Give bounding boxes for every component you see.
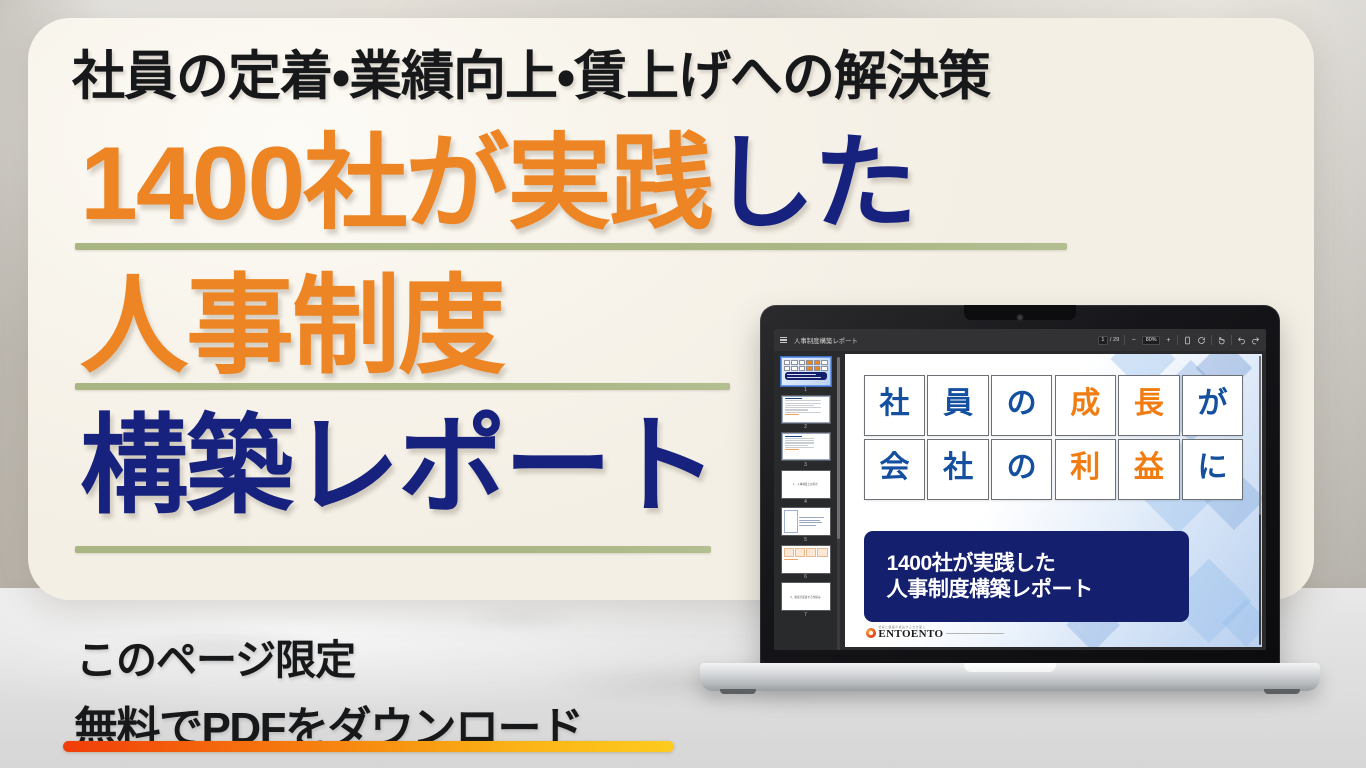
headline-line-3-navy: 構築レポート bbox=[80, 405, 716, 526]
logo-name: ENTOENTO bbox=[878, 629, 943, 640]
slide-tile-row-2: 会 社 の 利 益 に bbox=[864, 439, 1243, 500]
slide-tile: が bbox=[1182, 375, 1243, 436]
page-indicator: 1 / 29 bbox=[1098, 336, 1119, 345]
thumbnail-sidebar[interactable]: 1 2 bbox=[774, 351, 836, 650]
thumbnail-item[interactable]: 6 bbox=[780, 545, 831, 581]
thumbnail-page-5[interactable] bbox=[781, 507, 831, 536]
thumbnail-page-4[interactable]: 1．人事制度とは何か bbox=[781, 470, 831, 499]
page-scrollbar[interactable] bbox=[1259, 356, 1262, 645]
zoom-in-button[interactable]: + bbox=[1165, 337, 1172, 344]
slide-tile-grid: 社 員 の 成 長 が 会 社 の bbox=[864, 375, 1243, 503]
thumbnail-number: 5 bbox=[804, 538, 807, 543]
slide-pill-line-1: 1400社が実践した bbox=[887, 552, 1189, 576]
thumbnail-title-preview: 1．人事制度とは何か bbox=[782, 471, 830, 498]
thumbnail-number: 2 bbox=[804, 425, 807, 430]
thumbnail-title-preview: 2．制度が定着する仕組み bbox=[782, 583, 830, 610]
thumbnail-chart-preview bbox=[782, 508, 830, 535]
laptop-lid: 人事制度構築レポート 1 / 29 − 80% + bbox=[760, 305, 1280, 670]
slide-tile: 益 bbox=[1118, 439, 1179, 500]
slide-logo-text: 社員と組織の成長する力を築く ENTOENTO bbox=[878, 626, 943, 640]
laptop-base bbox=[700, 663, 1320, 691]
thumbnail-number: 4 bbox=[804, 500, 807, 505]
fit-page-icon[interactable] bbox=[1183, 336, 1192, 345]
thumbnail-item[interactable]: 2 bbox=[780, 395, 831, 431]
pdf-viewer-body: 1 2 bbox=[774, 351, 1266, 650]
cta-underline bbox=[63, 741, 674, 752]
divider-rule-2 bbox=[75, 383, 730, 390]
zoom-level-value[interactable]: 80% bbox=[1142, 336, 1160, 345]
webcam-icon bbox=[1017, 314, 1024, 321]
divider-rule-3 bbox=[75, 546, 711, 553]
headline-line-2-orange: 人事制度 bbox=[80, 265, 504, 386]
divider-rule-1 bbox=[75, 243, 1067, 250]
slide-tile: の bbox=[991, 439, 1052, 500]
slide-tile-row-1: 社 員 の 成 長 が bbox=[864, 375, 1243, 436]
thumbnail-page-7[interactable]: 2．制度が定着する仕組み bbox=[781, 582, 831, 611]
thumbnail-page-1[interactable] bbox=[781, 357, 831, 386]
slide-tile: 長 bbox=[1118, 375, 1179, 436]
headline-line-1-orange: 1400社が実践 bbox=[80, 126, 711, 242]
thumbnail-title-text: 1．人事制度とは何か bbox=[793, 482, 818, 486]
pdf-page-canvas: 社 員 の 成 長 が 会 社 の bbox=[842, 351, 1266, 650]
thumbnail-cover-preview bbox=[782, 358, 830, 385]
toolbar-separator bbox=[1211, 335, 1212, 345]
laptop-screen: 人事制度構築レポート 1 / 29 − 80% + bbox=[774, 329, 1266, 650]
sub-headline: 社員の定着・業績向上・賃上げへの解決策 bbox=[72, 34, 990, 110]
thumbnail-outline-preview bbox=[782, 433, 830, 460]
slide-tile: 社 bbox=[927, 439, 988, 500]
thumbnail-title-text: 2．制度が定着する仕組み bbox=[791, 595, 821, 599]
thumbnail-page-6[interactable] bbox=[781, 545, 831, 574]
redo-icon[interactable] bbox=[1251, 336, 1260, 345]
headline-line-3: 構築レポート bbox=[80, 412, 716, 520]
laptop-foot bbox=[1264, 689, 1300, 694]
pdf-viewer-toolbar: 人事制度構築レポート 1 / 29 − 80% + bbox=[774, 329, 1266, 351]
thumbnail-item[interactable]: 3 bbox=[780, 432, 831, 468]
thumbnail-scrollbar[interactable] bbox=[837, 357, 840, 650]
slide-tile: 員 bbox=[927, 375, 988, 436]
thumbnail-number: 7 bbox=[804, 613, 807, 618]
rotate-icon[interactable] bbox=[1197, 336, 1206, 345]
toolbar-separator bbox=[1177, 335, 1178, 345]
slide-tile: の bbox=[991, 375, 1052, 436]
thumbnail-page-3[interactable] bbox=[781, 432, 831, 461]
page-total-label: / 29 bbox=[1110, 337, 1119, 343]
thumbnail-item[interactable]: 1．人事制度とは何か 4 bbox=[780, 470, 831, 506]
zoom-out-button[interactable]: − bbox=[1130, 337, 1137, 344]
laptop-mockup: 人事制度構築レポート 1 / 29 − 80% + bbox=[700, 305, 1320, 695]
poster-canvas: 社員の定着・業績向上・賃上げへの解決策 1400社が実践した 人事制度 構築レポ… bbox=[0, 0, 1366, 768]
thumbnail-number: 1 bbox=[804, 388, 807, 393]
slide-title-pill: 1400社が実践した 人事制度構築レポート bbox=[864, 531, 1189, 622]
thumbnail-number: 3 bbox=[804, 463, 807, 468]
thumbnail-table-preview bbox=[782, 546, 830, 573]
hand-tool-icon[interactable] bbox=[1217, 336, 1226, 345]
headline-line-1: 1400社が実践した bbox=[80, 132, 915, 236]
pdf-page-1: 社 員 の 成 長 が 会 社 の bbox=[845, 354, 1262, 647]
slide-tile: に bbox=[1182, 439, 1243, 500]
hamburger-menu-icon[interactable] bbox=[780, 337, 787, 343]
slide-tile: 社 bbox=[864, 375, 925, 436]
toolbar-separator bbox=[1124, 335, 1125, 345]
entoento-logo-mark-icon bbox=[866, 628, 876, 638]
slide-tile: 会 bbox=[864, 439, 925, 500]
pdf-toolbar-controls: 1 / 29 − 80% + bbox=[1098, 335, 1260, 345]
thumbnail-page-2[interactable] bbox=[781, 395, 831, 424]
slide-logo: 社員と組織の成長する力を築く ENTOENTO bbox=[866, 626, 1004, 640]
thumbnail-text-preview bbox=[782, 396, 830, 423]
undo-icon[interactable] bbox=[1237, 336, 1246, 345]
toolbar-separator bbox=[1231, 335, 1232, 345]
thumbnail-item[interactable]: 2．制度が定着する仕組み 7 bbox=[780, 582, 831, 618]
headline-line-1-navy: した bbox=[711, 126, 915, 242]
thumbnail-number: 6 bbox=[804, 575, 807, 580]
page-number-input[interactable]: 1 bbox=[1098, 336, 1108, 345]
thumbnail-item[interactable]: 1 bbox=[780, 357, 831, 393]
slide-tile: 利 bbox=[1055, 439, 1116, 500]
slide-pill-line-2: 人事制度構築レポート bbox=[887, 578, 1189, 602]
headline-line-2: 人事制度 bbox=[80, 272, 504, 380]
laptop-foot bbox=[720, 689, 756, 694]
cta-eyebrow: このページ限定 bbox=[76, 626, 355, 686]
logo-divider bbox=[946, 633, 1004, 634]
thumbnail-item[interactable]: 5 bbox=[780, 507, 831, 543]
slide-tile: 成 bbox=[1055, 375, 1116, 436]
pdf-document-title: 人事制度構築レポート bbox=[794, 336, 858, 345]
